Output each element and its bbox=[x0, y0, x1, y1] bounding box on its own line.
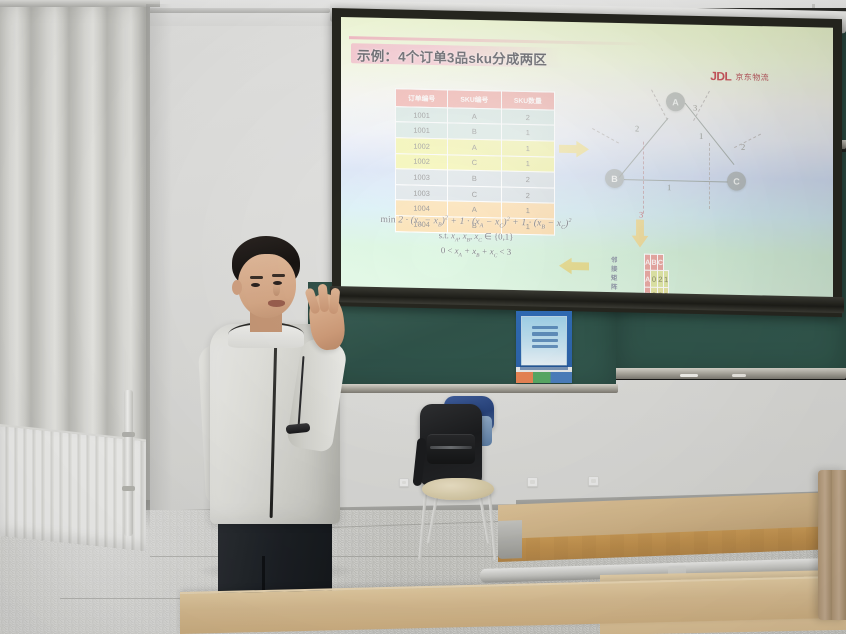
order-table-header-order: 订单编号 bbox=[396, 89, 448, 108]
graph-cut-line-right bbox=[734, 134, 761, 148]
matrix-row: A021 bbox=[645, 270, 669, 287]
graph-node-a: A bbox=[666, 92, 685, 111]
backpack-zipper bbox=[430, 446, 472, 449]
presenter-eye-left bbox=[251, 283, 260, 287]
graph-diagram: A B C 2 1 1 3 2 3 bbox=[597, 85, 767, 219]
poster-inner-panel bbox=[521, 316, 567, 366]
order-cell-sku: A bbox=[448, 139, 501, 156]
optimization-formula: min 2 · (xA − xB)2 + 1 · (xA − xC)2 + 1 … bbox=[363, 213, 589, 261]
backpack-pocket bbox=[427, 434, 475, 464]
chalk-tray-lower bbox=[610, 368, 846, 379]
black-backpack bbox=[420, 404, 482, 486]
poster-text-lines bbox=[532, 326, 558, 352]
matrix-label: 邻接矩阵 bbox=[611, 255, 617, 291]
graph-cut-label-bottom: 3 bbox=[639, 210, 643, 220]
chalk-piece bbox=[680, 374, 698, 377]
order-cell-sku: C bbox=[448, 186, 501, 203]
presenter-nose bbox=[273, 284, 280, 296]
presenter-finger bbox=[318, 284, 330, 313]
graph-cut-line-vertical-right bbox=[709, 143, 710, 209]
graph-cut-label-top: 3 bbox=[693, 103, 697, 113]
wall-socket-2[interactable] bbox=[527, 477, 538, 487]
curtain-shadow bbox=[146, 4, 172, 514]
presenter-face bbox=[238, 254, 296, 318]
presentation-slide: 示例：4个订单3品sku分成两区 JDL 京东物流 订单编号 SKU编号 SKU… bbox=[341, 17, 833, 300]
formula-constraint-sum: 0 < xA + xB + xC < 3 bbox=[363, 243, 589, 261]
graph-cut-line-left bbox=[592, 128, 619, 144]
order-cell-qty: 1 bbox=[501, 140, 554, 157]
graph-cut-line-top-left bbox=[651, 90, 668, 121]
wall-poster bbox=[516, 311, 572, 383]
order-cell-qty: 1 bbox=[501, 156, 554, 173]
matrix-col-c: C bbox=[657, 254, 663, 271]
chalk-piece bbox=[732, 374, 746, 377]
pipe-band bbox=[122, 432, 135, 437]
matrix-header-row: A B C bbox=[645, 254, 669, 271]
jdl-logo: JDL 京东物流 bbox=[710, 69, 769, 84]
order-cell-qty: 2 bbox=[501, 187, 554, 204]
foreground-curtain bbox=[818, 470, 846, 620]
classroom-photo: 示例：4个订单3品sku分成两区 JDL 京东物流 订单编号 SKU编号 SKU… bbox=[0, 0, 846, 634]
order-cell-sku: C bbox=[448, 154, 501, 171]
graph-cut-line-vertical-left bbox=[643, 142, 644, 214]
order-cell-order: 1002 bbox=[396, 153, 448, 170]
radiator-pipe bbox=[124, 390, 133, 536]
order-table-header-qty: SKU数量 bbox=[501, 91, 554, 110]
order-cell-order: 1002 bbox=[396, 138, 448, 155]
order-cell-order: 1001 bbox=[396, 106, 448, 123]
pipe-band bbox=[122, 486, 135, 491]
curtain-rod bbox=[0, 0, 160, 7]
order-cell-qty: 1 bbox=[501, 124, 554, 141]
matrix-cell: 1 bbox=[664, 271, 669, 287]
graph-edge-label-ab: 2 bbox=[635, 123, 639, 133]
presenter-ear bbox=[232, 280, 242, 295]
order-cell-sku: A bbox=[448, 108, 501, 125]
poster-footer-bar bbox=[520, 365, 568, 370]
order-cell-qty: 2 bbox=[501, 171, 554, 188]
order-cell-qty: 2 bbox=[501, 109, 554, 126]
wall-socket-3[interactable] bbox=[588, 476, 599, 486]
arrow-down-icon bbox=[631, 219, 649, 247]
graph-edge-bc bbox=[624, 179, 728, 182]
order-table-header-sku: SKU编号 bbox=[448, 90, 501, 109]
graph-edge-label-ac: 1 bbox=[699, 131, 703, 141]
logo-mark: JDL bbox=[710, 69, 731, 83]
chair-seat bbox=[422, 478, 494, 500]
presenter-mouth bbox=[268, 300, 285, 307]
order-sku-table: 订单编号 SKU编号 SKU数量 1001A21001B11002A11002C… bbox=[395, 88, 555, 235]
order-cell-order: 1003 bbox=[396, 184, 448, 201]
presenter bbox=[188, 236, 378, 582]
slide-title: 示例：4个订单3品sku分成两区 bbox=[357, 44, 547, 68]
stage-corner-cap bbox=[498, 520, 522, 559]
poster-color-strip bbox=[516, 372, 572, 383]
logo-text: 京东物流 bbox=[735, 71, 769, 83]
order-cell-order: 1003 bbox=[396, 169, 448, 186]
order-cell-sku: B bbox=[448, 123, 501, 140]
graph-node-c: C bbox=[727, 171, 746, 190]
arrow-right-icon bbox=[559, 140, 589, 159]
order-cell-order: 1001 bbox=[396, 122, 448, 139]
wall-socket-1[interactable] bbox=[399, 478, 409, 487]
graph-cut-label-right: 2 bbox=[741, 142, 745, 152]
graph-edge-label-bc: 1 bbox=[667, 182, 671, 192]
presenter-brow-right bbox=[272, 274, 285, 277]
graph-node-b: B bbox=[605, 169, 624, 188]
presenter-brow-left bbox=[250, 276, 263, 279]
order-cell-sku: B bbox=[448, 170, 501, 187]
